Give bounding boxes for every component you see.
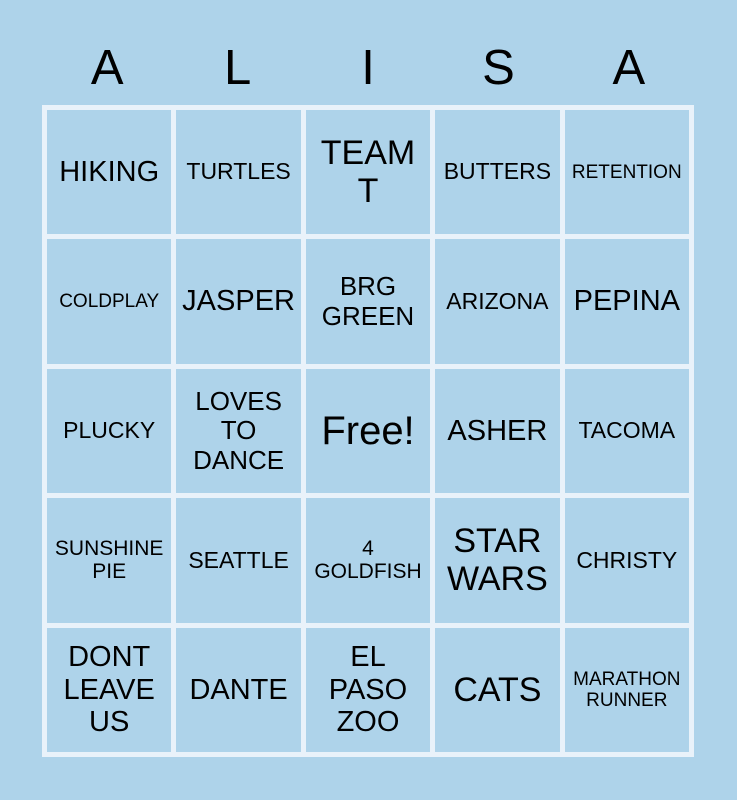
- bingo-cell[interactable]: CHRISTY: [565, 498, 689, 622]
- bingo-cell-label: RETENTION: [568, 162, 686, 183]
- bingo-cell[interactable]: BRG GREEN: [306, 239, 430, 363]
- bingo-grid: HIKINGTURTLESTEAM TBUTTERSRETENTIONCOLDP…: [42, 105, 694, 757]
- bingo-cell[interactable]: BUTTERS: [435, 110, 559, 234]
- bingo-cell-label: JASPER: [179, 285, 297, 317]
- header-letter-2: L: [172, 44, 302, 93]
- bingo-cell[interactable]: MARATHON RUNNER: [565, 628, 689, 752]
- bingo-cell-label: LOVES TO DANCE: [179, 387, 297, 474]
- bingo-cell[interactable]: COLDPLAY: [47, 239, 171, 363]
- header-letter-3: I: [303, 44, 433, 93]
- bingo-cell-label: PEPINA: [568, 285, 686, 317]
- bingo-cell-label: SUNSHINE PIE: [50, 537, 168, 584]
- bingo-cell-label: DANTE: [179, 674, 297, 706]
- bingo-cell-label: CATS: [438, 671, 556, 709]
- bingo-cell-label: DONT LEAVE US: [50, 641, 168, 738]
- bingo-cell[interactable]: HIKING: [47, 110, 171, 234]
- bingo-cell[interactable]: STAR WARS: [435, 498, 559, 622]
- bingo-cell[interactable]: ARIZONA: [435, 239, 559, 363]
- header-letter-4: S: [433, 44, 563, 93]
- bingo-cell-label: EL PASO ZOO: [309, 641, 427, 738]
- bingo-cell[interactable]: CATS: [435, 628, 559, 752]
- bingo-cell-label: ASHER: [438, 415, 556, 447]
- bingo-cell[interactable]: TURTLES: [176, 110, 300, 234]
- bingo-cell-label: HIKING: [50, 156, 168, 188]
- bingo-card: A L I S A HIKINGTURTLESTEAM TBUTTERSRETE…: [0, 0, 737, 800]
- bingo-cell[interactable]: DONT LEAVE US: [47, 628, 171, 752]
- bingo-cell[interactable]: TEAM T: [306, 110, 430, 234]
- bingo-cell-label: MARATHON RUNNER: [568, 669, 686, 712]
- bingo-cell-label: Free!: [309, 409, 427, 454]
- bingo-cell-free[interactable]: Free!: [306, 369, 430, 493]
- bingo-cell-label: BRG GREEN: [309, 272, 427, 330]
- bingo-header-row: A L I S A: [42, 34, 694, 102]
- bingo-cell-label: 4 GOLDFISH: [309, 537, 427, 584]
- bingo-cell[interactable]: LOVES TO DANCE: [176, 369, 300, 493]
- bingo-cell-label: CHRISTY: [568, 548, 686, 574]
- header-letter-1: A: [42, 44, 172, 93]
- bingo-cell[interactable]: PLUCKY: [47, 369, 171, 493]
- bingo-cell-label: TEAM T: [309, 134, 427, 210]
- header-letter-5: A: [564, 44, 694, 93]
- bingo-cell-label: COLDPLAY: [50, 291, 168, 312]
- bingo-cell[interactable]: 4 GOLDFISH: [306, 498, 430, 622]
- bingo-cell[interactable]: JASPER: [176, 239, 300, 363]
- bingo-cell-label: PLUCKY: [50, 418, 168, 444]
- bingo-cell[interactable]: SEATTLE: [176, 498, 300, 622]
- bingo-cell[interactable]: EL PASO ZOO: [306, 628, 430, 752]
- bingo-cell[interactable]: PEPINA: [565, 239, 689, 363]
- bingo-cell[interactable]: TACOMA: [565, 369, 689, 493]
- bingo-cell-label: TACOMA: [568, 418, 686, 444]
- bingo-cell[interactable]: DANTE: [176, 628, 300, 752]
- bingo-cell[interactable]: ASHER: [435, 369, 559, 493]
- bingo-cell-label: TURTLES: [179, 159, 297, 185]
- bingo-cell[interactable]: RETENTION: [565, 110, 689, 234]
- bingo-cell-label: ARIZONA: [438, 289, 556, 315]
- bingo-cell-label: BUTTERS: [438, 159, 556, 185]
- bingo-cell-label: STAR WARS: [438, 522, 556, 598]
- bingo-cell[interactable]: SUNSHINE PIE: [47, 498, 171, 622]
- bingo-cell-label: SEATTLE: [179, 548, 297, 574]
